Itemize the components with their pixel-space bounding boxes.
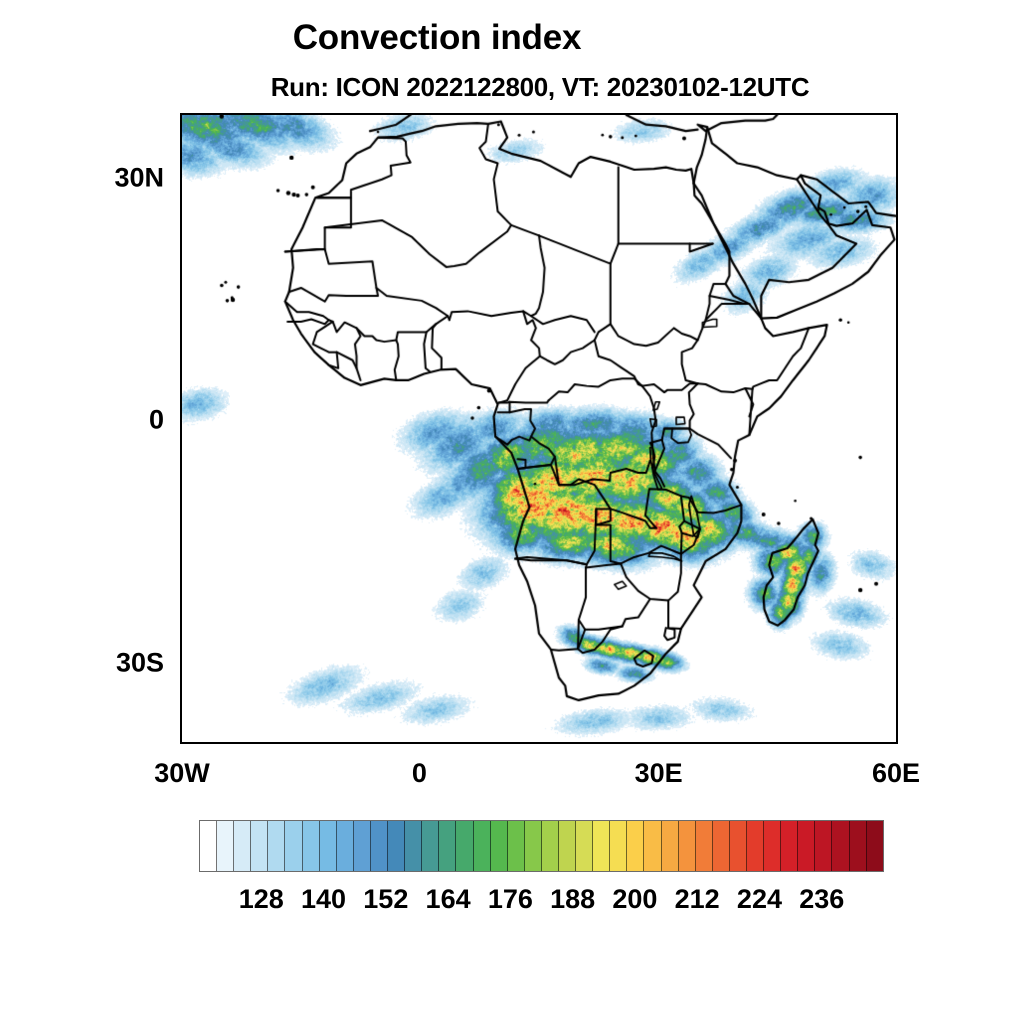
x-tick-label: 30E (635, 758, 683, 789)
y-tick-major (180, 664, 182, 666)
colorbar-cell[interactable] (251, 821, 268, 871)
colorbar-cell[interactable] (576, 821, 593, 871)
x-tick-label: 0 (412, 758, 427, 789)
colorbar-cell[interactable] (268, 821, 285, 871)
colorbar-tick-label: 212 (675, 884, 720, 915)
y-tick-major (180, 421, 182, 423)
y-tick-minor (180, 260, 182, 262)
y-tick-label: 30S (116, 648, 164, 679)
colorbar-tick-label: 200 (612, 884, 657, 915)
colorbar-cell[interactable] (200, 821, 217, 871)
colorbar-cell[interactable] (593, 821, 610, 871)
x-tick-label: 30W (154, 758, 210, 789)
colorbar[interactable] (199, 820, 884, 872)
x-tick-minor (580, 742, 582, 744)
colorbar-cell[interactable] (508, 821, 525, 871)
colorbar-tick-label: 176 (488, 884, 533, 915)
x-tick-major (660, 742, 662, 744)
page-title: Convection index (0, 18, 1024, 58)
colorbar-cell[interactable] (781, 821, 798, 871)
colorbar-cell[interactable] (627, 821, 644, 871)
colorbar-cell[interactable] (559, 821, 576, 871)
x-tick-label: 60E (872, 758, 920, 789)
colorbar-cell[interactable] (234, 821, 251, 871)
colorbar-cell[interactable] (474, 821, 491, 871)
x-tick-major (181, 742, 183, 744)
y-tick-minor (180, 341, 182, 343)
y-tick-major (180, 179, 182, 181)
colorbar-cell[interactable] (815, 821, 832, 871)
colorbar-cell[interactable] (405, 821, 422, 871)
colorbar-cell[interactable] (491, 821, 508, 871)
colorbar-cell[interactable] (439, 821, 456, 871)
colorbar-cell[interactable] (422, 821, 439, 871)
colorbar-cell[interactable] (525, 821, 542, 871)
colorbar-cell[interactable] (696, 821, 713, 871)
colorbar-cell[interactable] (610, 821, 627, 871)
colorbar-cell[interactable] (285, 821, 302, 871)
x-tick-minor (261, 742, 263, 744)
colorbar-cells[interactable] (199, 820, 884, 872)
y-tick-label: 30N (114, 162, 164, 193)
colorbar-cell[interactable] (456, 821, 473, 871)
colorbar-tick-label: 236 (799, 884, 844, 915)
colorbar-cell[interactable] (832, 821, 849, 871)
colorbar-cell[interactable] (388, 821, 405, 871)
x-tick-minor (500, 742, 502, 744)
colorbar-cell[interactable] (867, 821, 883, 871)
colorbar-cell[interactable] (850, 821, 867, 871)
colorbar-tick-labels: 128140152164176188200212224236 (199, 884, 884, 918)
colorbar-cell[interactable] (337, 821, 354, 871)
colorbar-cell[interactable] (679, 821, 696, 871)
x-tick-minor (819, 742, 821, 744)
x-axis-labels: 30W030E60E (180, 758, 898, 798)
colorbar-cell[interactable] (320, 821, 337, 871)
colorbar-cell[interactable] (644, 821, 661, 871)
x-tick-major (420, 742, 422, 744)
colorbar-cell[interactable] (798, 821, 815, 871)
colorbar-cell[interactable] (217, 821, 234, 871)
colorbar-cell[interactable] (764, 821, 781, 871)
colorbar-cell[interactable] (730, 821, 747, 871)
convection-index-heatmap (182, 115, 896, 742)
y-tick-label: 0 (149, 405, 164, 436)
colorbar-cell[interactable] (662, 821, 679, 871)
x-tick-minor (739, 742, 741, 744)
colorbar-tick-label: 128 (239, 884, 284, 915)
colorbar-cell[interactable] (303, 821, 320, 871)
y-axis-labels: 30N030S (0, 113, 180, 744)
colorbar-tick-label: 224 (737, 884, 782, 915)
colorbar-cell[interactable] (747, 821, 764, 871)
x-tick-minor (341, 742, 343, 744)
y-tick-minor (180, 502, 182, 504)
colorbar-tick-label: 164 (426, 884, 471, 915)
page-subtitle: Run: ICON 2022122800, VT: 20230102-12UTC (0, 72, 1024, 103)
colorbar-cell[interactable] (354, 821, 371, 871)
colorbar-cell[interactable] (713, 821, 730, 871)
colorbar-tick-label: 140 (301, 884, 346, 915)
colorbar-tick-label: 188 (550, 884, 595, 915)
colorbar-tick-label: 152 (363, 884, 408, 915)
map-plot-area[interactable] (180, 113, 898, 744)
colorbar-cell[interactable] (542, 821, 559, 871)
y-tick-minor (180, 583, 182, 585)
colorbar-cell[interactable] (371, 821, 388, 871)
